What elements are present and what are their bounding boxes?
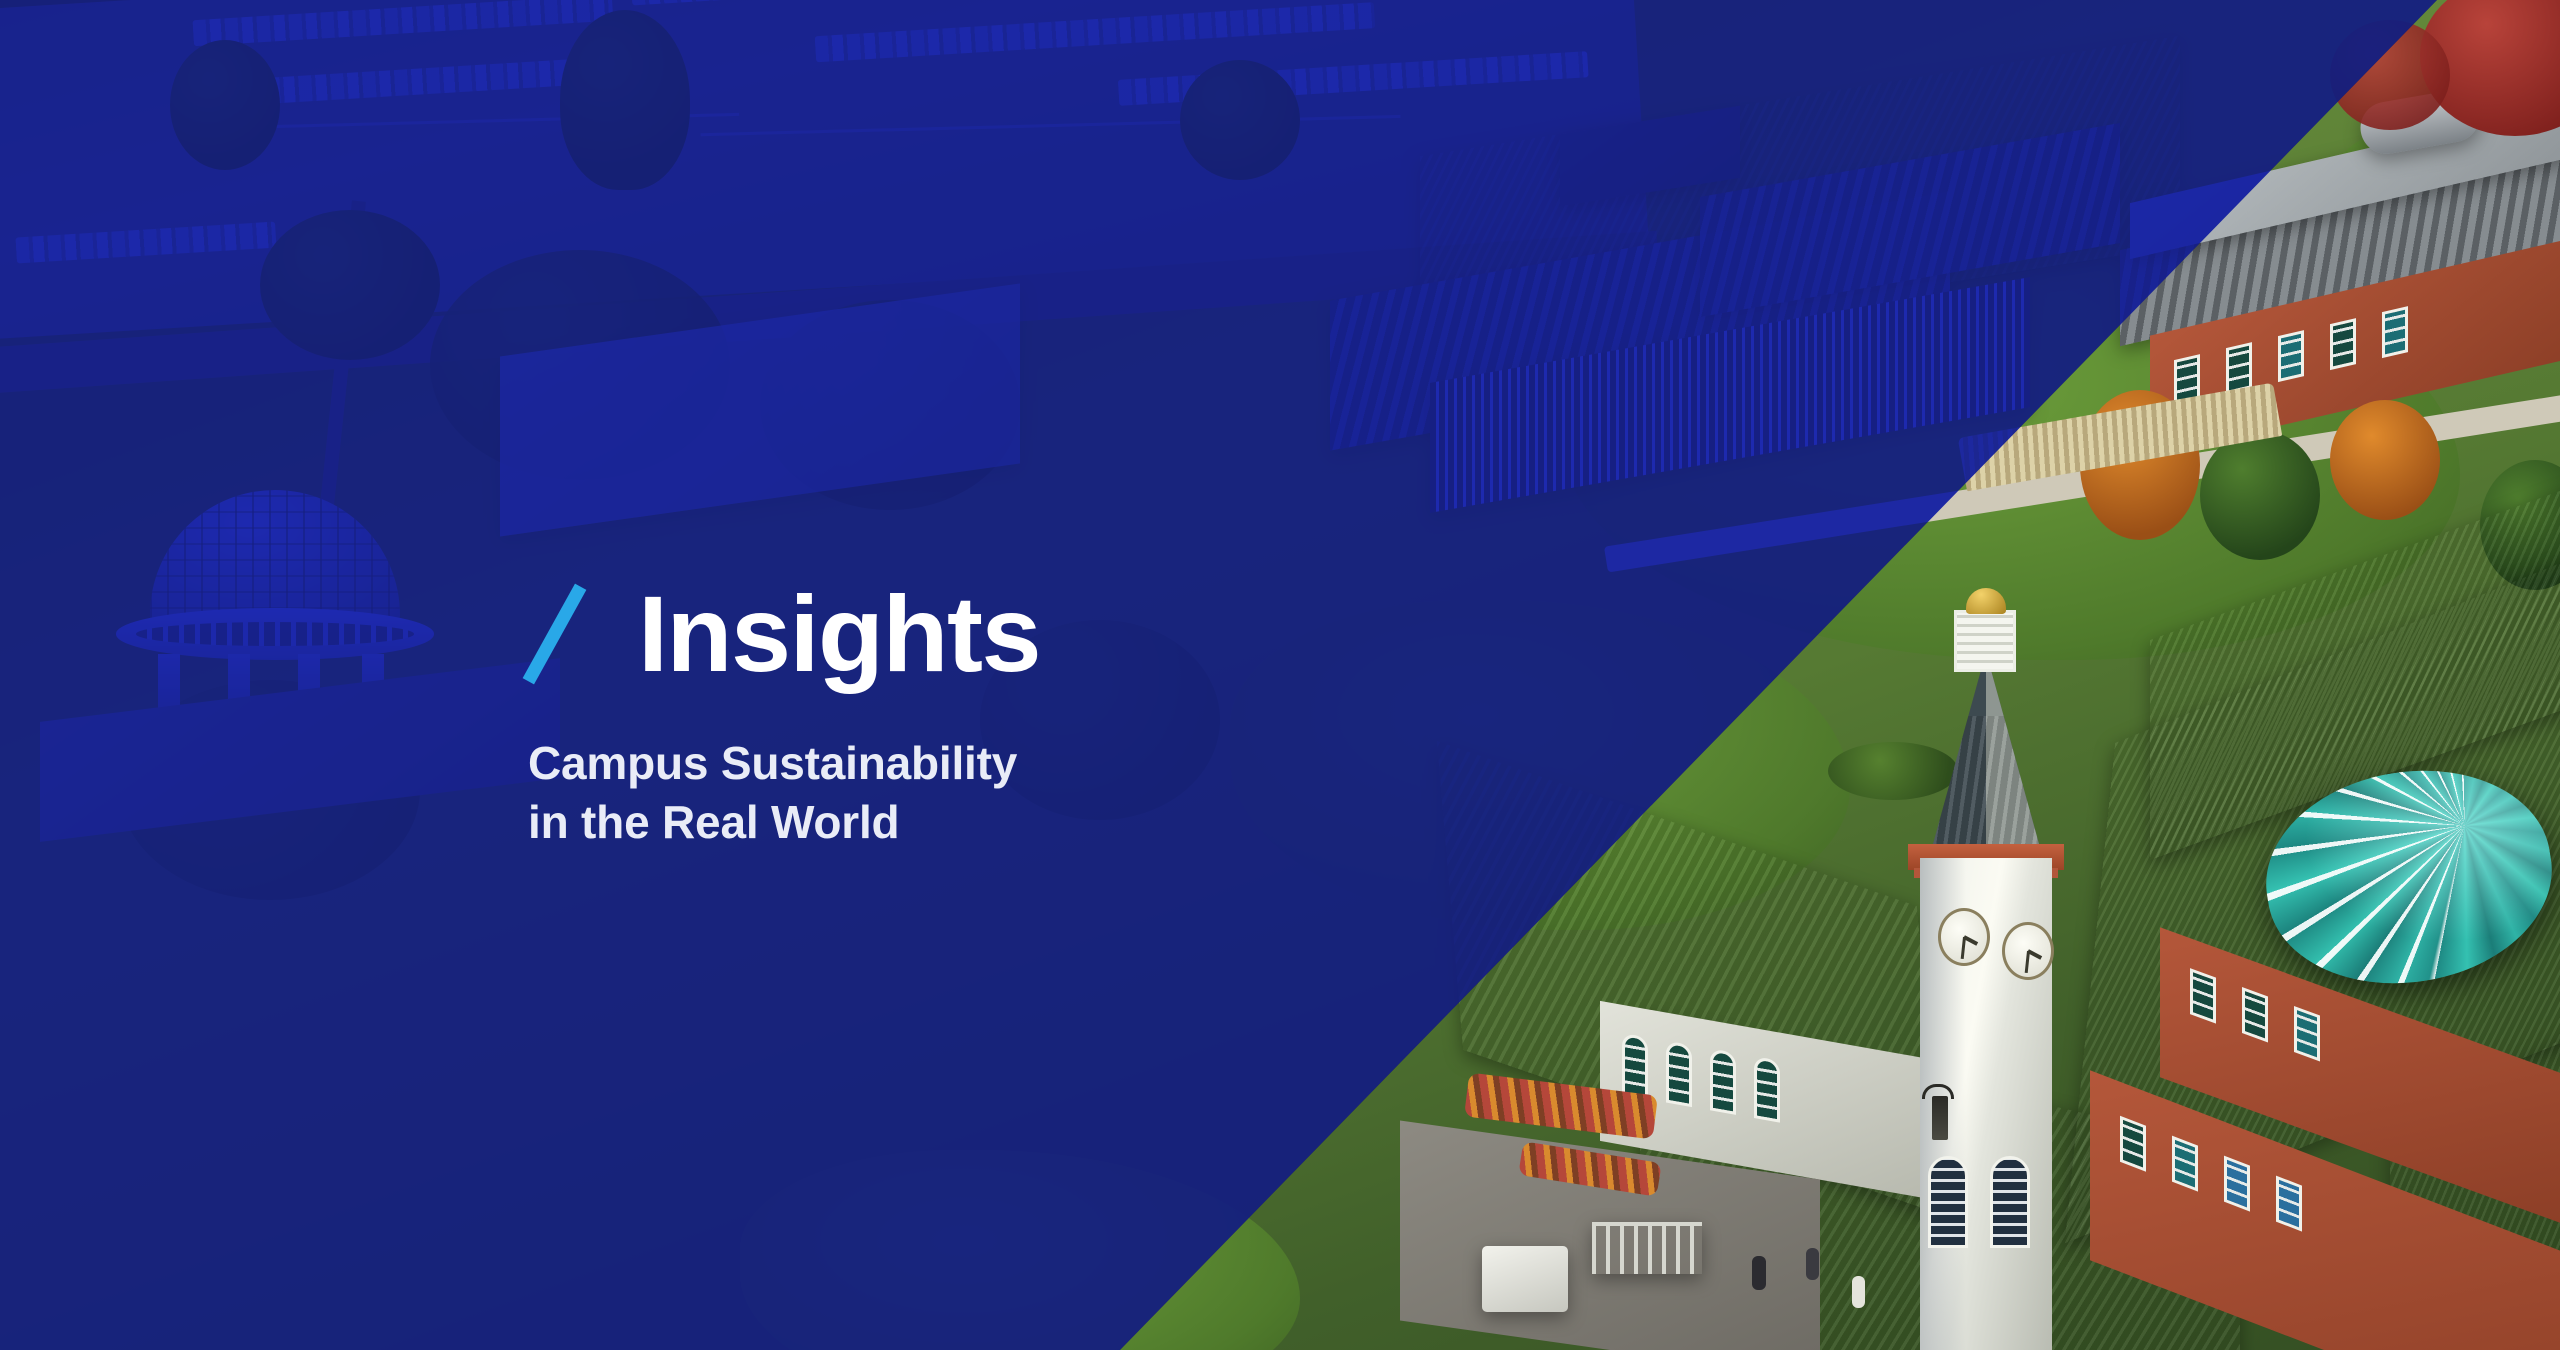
arch-window: [1666, 1041, 1692, 1108]
window: [2382, 306, 2408, 358]
clock-minute-hand: [2024, 951, 2029, 973]
wall-lantern: [1932, 1096, 1948, 1140]
tower-arched-window: [1990, 1156, 2030, 1248]
hero-subtitle-line-1: Campus Sustainability: [528, 734, 1040, 793]
arch-window: [1622, 1033, 1648, 1100]
window-row: [2174, 306, 2408, 406]
tower-cupola: [1954, 610, 2016, 672]
window: [2278, 330, 2304, 382]
window: [2172, 1136, 2198, 1192]
service-cart: [1482, 1246, 1568, 1312]
tree: [2200, 430, 2320, 560]
window: [2242, 987, 2268, 1042]
clock-face-south: [2002, 922, 2054, 980]
tower-arched-window: [1928, 1156, 1968, 1248]
window: [2224, 1156, 2250, 1212]
page-title: Insights: [638, 580, 1040, 688]
window: [2276, 1176, 2302, 1232]
hero-text-block: Insights Campus Sustainability in the Re…: [528, 580, 1040, 852]
window: [2294, 1006, 2320, 1061]
window-row: [2190, 968, 2320, 1061]
title-row: Insights: [528, 580, 1040, 688]
arch-window: [1754, 1056, 1780, 1123]
window: [2120, 1116, 2146, 1172]
railing: [1592, 1222, 1702, 1274]
pedestrian: [1806, 1248, 1819, 1280]
clock-minute-hand: [1960, 937, 1965, 959]
pedestrian: [1752, 1256, 1766, 1290]
insights-hero-banner: Insights Campus Sustainability in the Re…: [0, 0, 2560, 1350]
autumn-tree: [2330, 400, 2440, 520]
clock-face-west: [1938, 908, 1990, 966]
clock-tower: [1862, 596, 2102, 1350]
window: [2330, 318, 2356, 370]
hero-subtitle: Campus Sustainability in the Real World: [528, 734, 1040, 852]
hero-subtitle-line-2: in the Real World: [528, 793, 1040, 852]
arch-window: [1710, 1048, 1736, 1115]
slash-mark-icon: [528, 584, 594, 684]
window: [2190, 968, 2216, 1023]
